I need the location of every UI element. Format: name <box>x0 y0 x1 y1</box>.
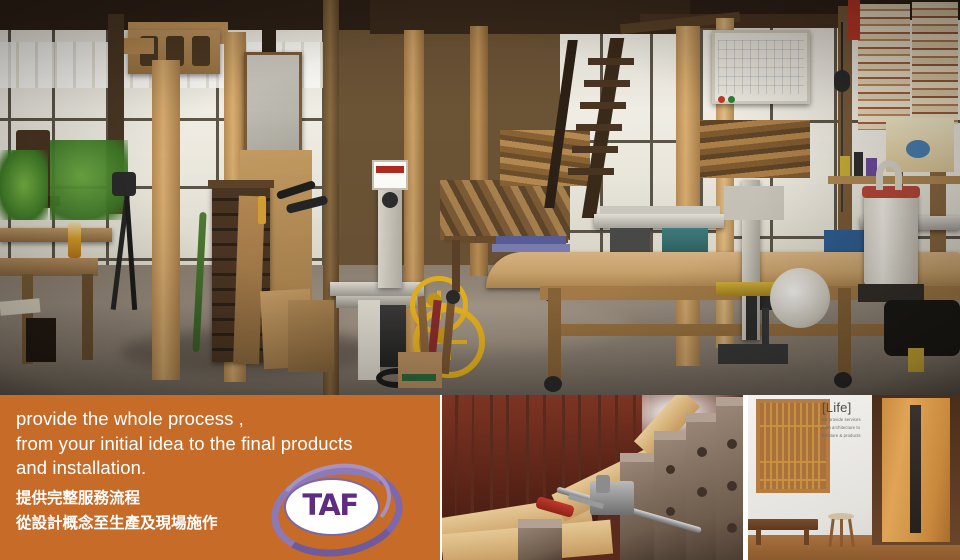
whiteboard-magnet <box>718 96 725 103</box>
lattice-slat <box>794 403 796 489</box>
lattice-rail <box>760 461 826 463</box>
lattice-slat <box>776 403 778 489</box>
hoist-block-bracket <box>192 36 210 66</box>
drill-press-chuck <box>746 296 757 340</box>
jig-form-block <box>654 435 690 560</box>
panel-separator <box>743 395 748 560</box>
page-root: provide the whole process , from your in… <box>0 0 960 560</box>
life-overlay-line1: we provide services <box>822 417 872 423</box>
staircase-step <box>588 58 634 65</box>
rack-caster-wheel <box>446 290 460 304</box>
jig-form-block-top <box>686 413 720 422</box>
poster-round-badge <box>906 140 930 158</box>
jointer-machine-base <box>358 300 380 380</box>
table-saw-fence <box>600 206 720 214</box>
hanging-cord <box>841 22 843 72</box>
wall-poster-panel <box>848 0 860 40</box>
lattice-slat <box>800 403 802 489</box>
cardboard-box <box>398 352 442 388</box>
plywood-panel <box>244 52 302 164</box>
hanging-cord <box>841 92 843 212</box>
staircase-step <box>580 102 626 109</box>
timber-header-beam <box>124 38 154 54</box>
lattice-rail <box>760 425 826 427</box>
lattice-slat <box>788 403 790 489</box>
timber-post <box>676 26 700 366</box>
drill-press-head <box>724 186 784 220</box>
taf-logo: TAF <box>271 464 389 546</box>
lattice-slat <box>764 403 766 489</box>
staircase-step <box>572 146 618 153</box>
jig-bolt-hole <box>697 487 707 497</box>
drill-press-wheel <box>770 268 830 328</box>
workshop-interior-photo <box>0 0 960 395</box>
wall-poster-panel <box>912 2 958 124</box>
jig-bolt-hole <box>666 507 675 516</box>
caption-english-line2: from your initial idea to the final prod… <box>16 432 416 457</box>
workbench-leg <box>82 274 93 360</box>
jig-bolt-hole <box>666 465 675 474</box>
jig-bolt-hole <box>727 523 737 533</box>
bandsaw-label <box>376 166 404 173</box>
hanging-weight <box>834 70 850 92</box>
bench-leg <box>804 529 809 545</box>
lumber-stack <box>500 130 590 186</box>
life-overlay-text: [Life] we provide services from architec… <box>822 401 872 440</box>
cabinet-top <box>208 180 274 188</box>
lattice-slat <box>812 403 814 489</box>
life-overlay-line3: furniture & products <box>822 433 872 439</box>
jointer-machine-table <box>330 282 424 296</box>
table-saw-top <box>594 214 724 228</box>
drill-press-base <box>718 344 788 364</box>
tripod-head <box>112 172 136 196</box>
wood-bending-jig-photo <box>442 395 743 560</box>
books-on-bench <box>496 236 566 244</box>
lattice-rail <box>760 479 826 481</box>
workbench-left <box>0 228 112 242</box>
dust-collector-drum <box>864 190 918 286</box>
workbench-caster <box>544 376 562 392</box>
yellow-can <box>908 348 924 372</box>
wall-poster-panel <box>858 4 910 130</box>
bottle-on-shelf <box>854 152 863 176</box>
door-inlay-strip <box>910 405 921 533</box>
lattice-slat <box>818 403 820 489</box>
life-overlay-line2: from architecture to <box>822 425 872 431</box>
taf-logo-text: TAF <box>284 478 376 532</box>
books-on-bench <box>492 244 570 252</box>
workbench-leg <box>838 288 851 376</box>
oil-bottle <box>68 222 81 258</box>
bottle-on-shelf <box>840 156 850 176</box>
caption-english-line1: provide the whole process , <box>16 407 416 432</box>
life-overlay-title: [Life] <box>822 401 872 415</box>
jig-bolt-hole <box>727 439 737 449</box>
jig-form-block-top <box>518 519 562 528</box>
lumber-rack-leg <box>452 240 460 292</box>
bar-clamp-jaw <box>596 475 610 493</box>
crate-box <box>26 318 56 362</box>
stool-leg <box>840 519 843 547</box>
hanging-paint-brush <box>258 196 266 224</box>
staircase-step <box>576 124 622 131</box>
bottom-band: provide the whole process , from your in… <box>0 395 960 560</box>
staircase-step <box>584 80 630 87</box>
bench-vise-screw <box>762 308 769 348</box>
whiteboard-grid <box>718 40 804 94</box>
jig-form-block-top <box>654 431 690 440</box>
workbench-caster <box>834 372 852 388</box>
staircase-step <box>568 168 614 175</box>
jig-form-block-top <box>620 453 658 462</box>
lumber-stack <box>700 120 810 178</box>
jig-bolt-hole <box>697 447 707 457</box>
bandsaw-motor-housing <box>372 160 408 190</box>
jig-bolt-hole <box>727 481 737 491</box>
life-interior-photo: [Life] we provide services from architec… <box>748 395 960 560</box>
leaning-board <box>288 300 334 372</box>
lattice-slat <box>770 403 772 489</box>
bench-leg <box>756 529 761 545</box>
box-label <box>402 374 436 381</box>
lattice-slat <box>782 403 784 489</box>
timber-post <box>152 60 180 380</box>
lattice-slat <box>806 403 808 489</box>
panel-separator <box>440 395 442 560</box>
dust-collector-hose <box>876 160 902 190</box>
jig-form-block <box>518 523 562 560</box>
bandsaw-knob <box>382 192 398 208</box>
workbench-leg <box>548 288 561 380</box>
jig-form-block-top <box>716 397 743 406</box>
whiteboard-magnet <box>728 96 735 103</box>
timber-lattice-screen <box>756 399 830 493</box>
potted-plant <box>0 150 48 220</box>
